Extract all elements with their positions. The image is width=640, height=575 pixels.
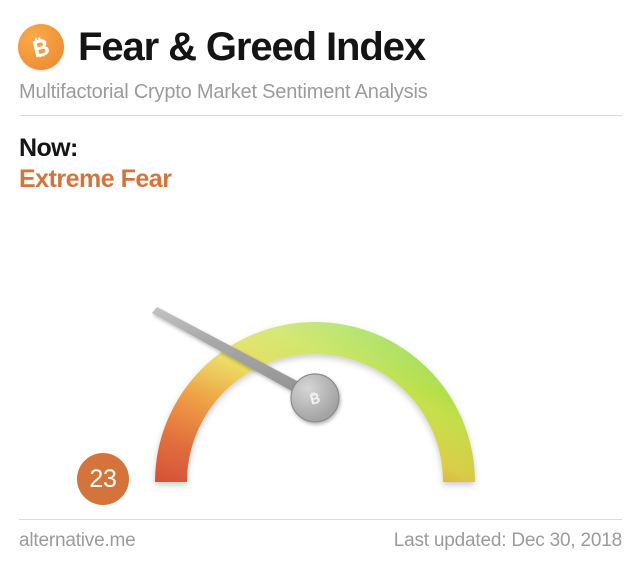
header-divider: [19, 115, 622, 116]
footer: alternative.me Last updated: Dec 30, 201…: [19, 530, 622, 552]
footer-last-updated: Last updated: Dec 30, 2018: [394, 530, 622, 552]
current-status-block: Now: Extreme Fear: [19, 134, 171, 193]
footer-divider: [19, 519, 622, 520]
header: Fear & Greed Index: [18, 18, 622, 76]
bitcoin-icon: [18, 24, 64, 70]
now-label: Now:: [19, 134, 171, 162]
gauge-value: 23: [89, 467, 116, 492]
gauge-chart: 23: [0, 190, 640, 500]
status-badge: Extreme Fear: [19, 165, 171, 193]
footer-brand: alternative.me: [19, 530, 136, 552]
fear-greed-index-widget: Fear & Greed Index Multifactorial Crypto…: [0, 0, 640, 575]
page-subtitle: Multifactorial Crypto Market Sentiment A…: [19, 81, 428, 104]
page-title: Fear & Greed Index: [78, 27, 425, 67]
gauge-value-badge: 23: [77, 453, 129, 505]
